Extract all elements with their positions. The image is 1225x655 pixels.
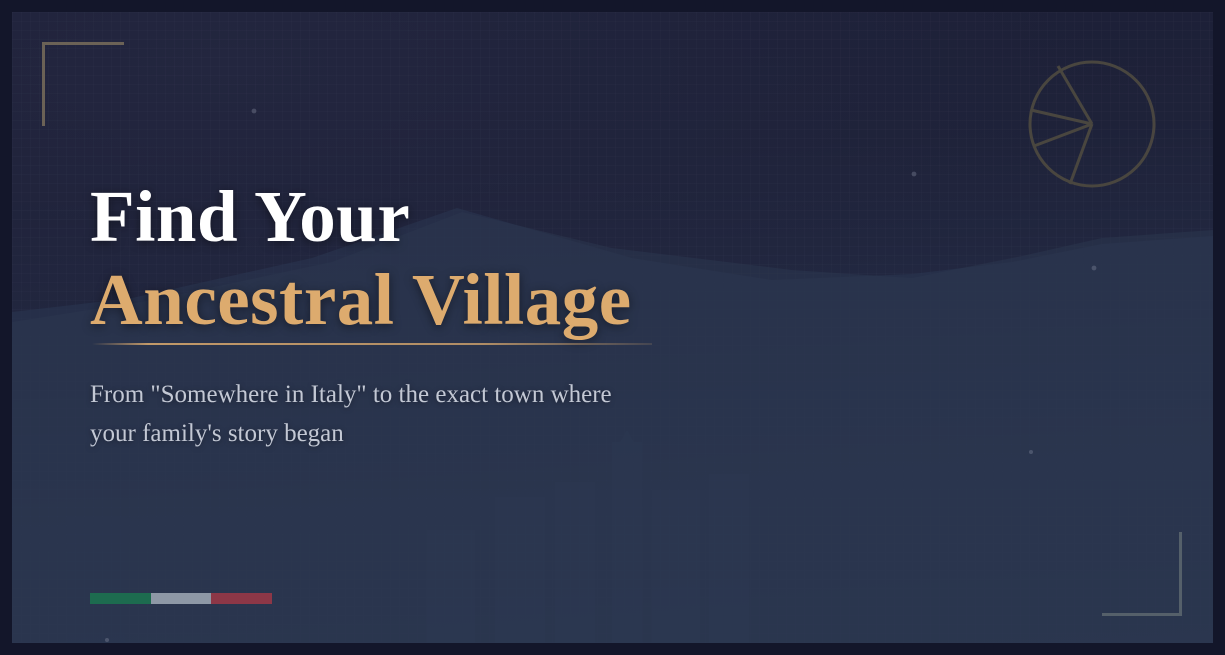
page-title: Find Your Ancestral Village: [90, 178, 850, 339]
headline-line-two: Ancestral Village: [90, 261, 632, 338]
bracket-horizontal-line: [42, 42, 124, 45]
corner-bracket-top-left: [42, 42, 124, 126]
pie-chart-outline: [1030, 62, 1154, 186]
hero-content: Find Your Ancestral Village From "Somewh…: [90, 178, 850, 454]
hero-banner: Find Your Ancestral Village From "Somewh…: [12, 12, 1213, 643]
flag-segment-green: [90, 593, 151, 604]
italian-flag-bar: [90, 593, 272, 604]
hero-subtitle: From "Somewhere in Italy" to the exact t…: [90, 375, 630, 454]
headline-line-two-wrapper: Ancestral Village: [90, 261, 632, 338]
headline-line-one: Find Your: [90, 178, 850, 255]
bracket-horizontal-line: [1102, 613, 1182, 616]
flag-segment-red: [211, 593, 272, 604]
corner-bracket-bottom-right: [1102, 532, 1182, 616]
flag-segment-white: [151, 593, 212, 604]
bracket-vertical-line: [42, 42, 45, 126]
headline-underline: [92, 343, 652, 345]
bracket-vertical-line: [1179, 532, 1182, 616]
